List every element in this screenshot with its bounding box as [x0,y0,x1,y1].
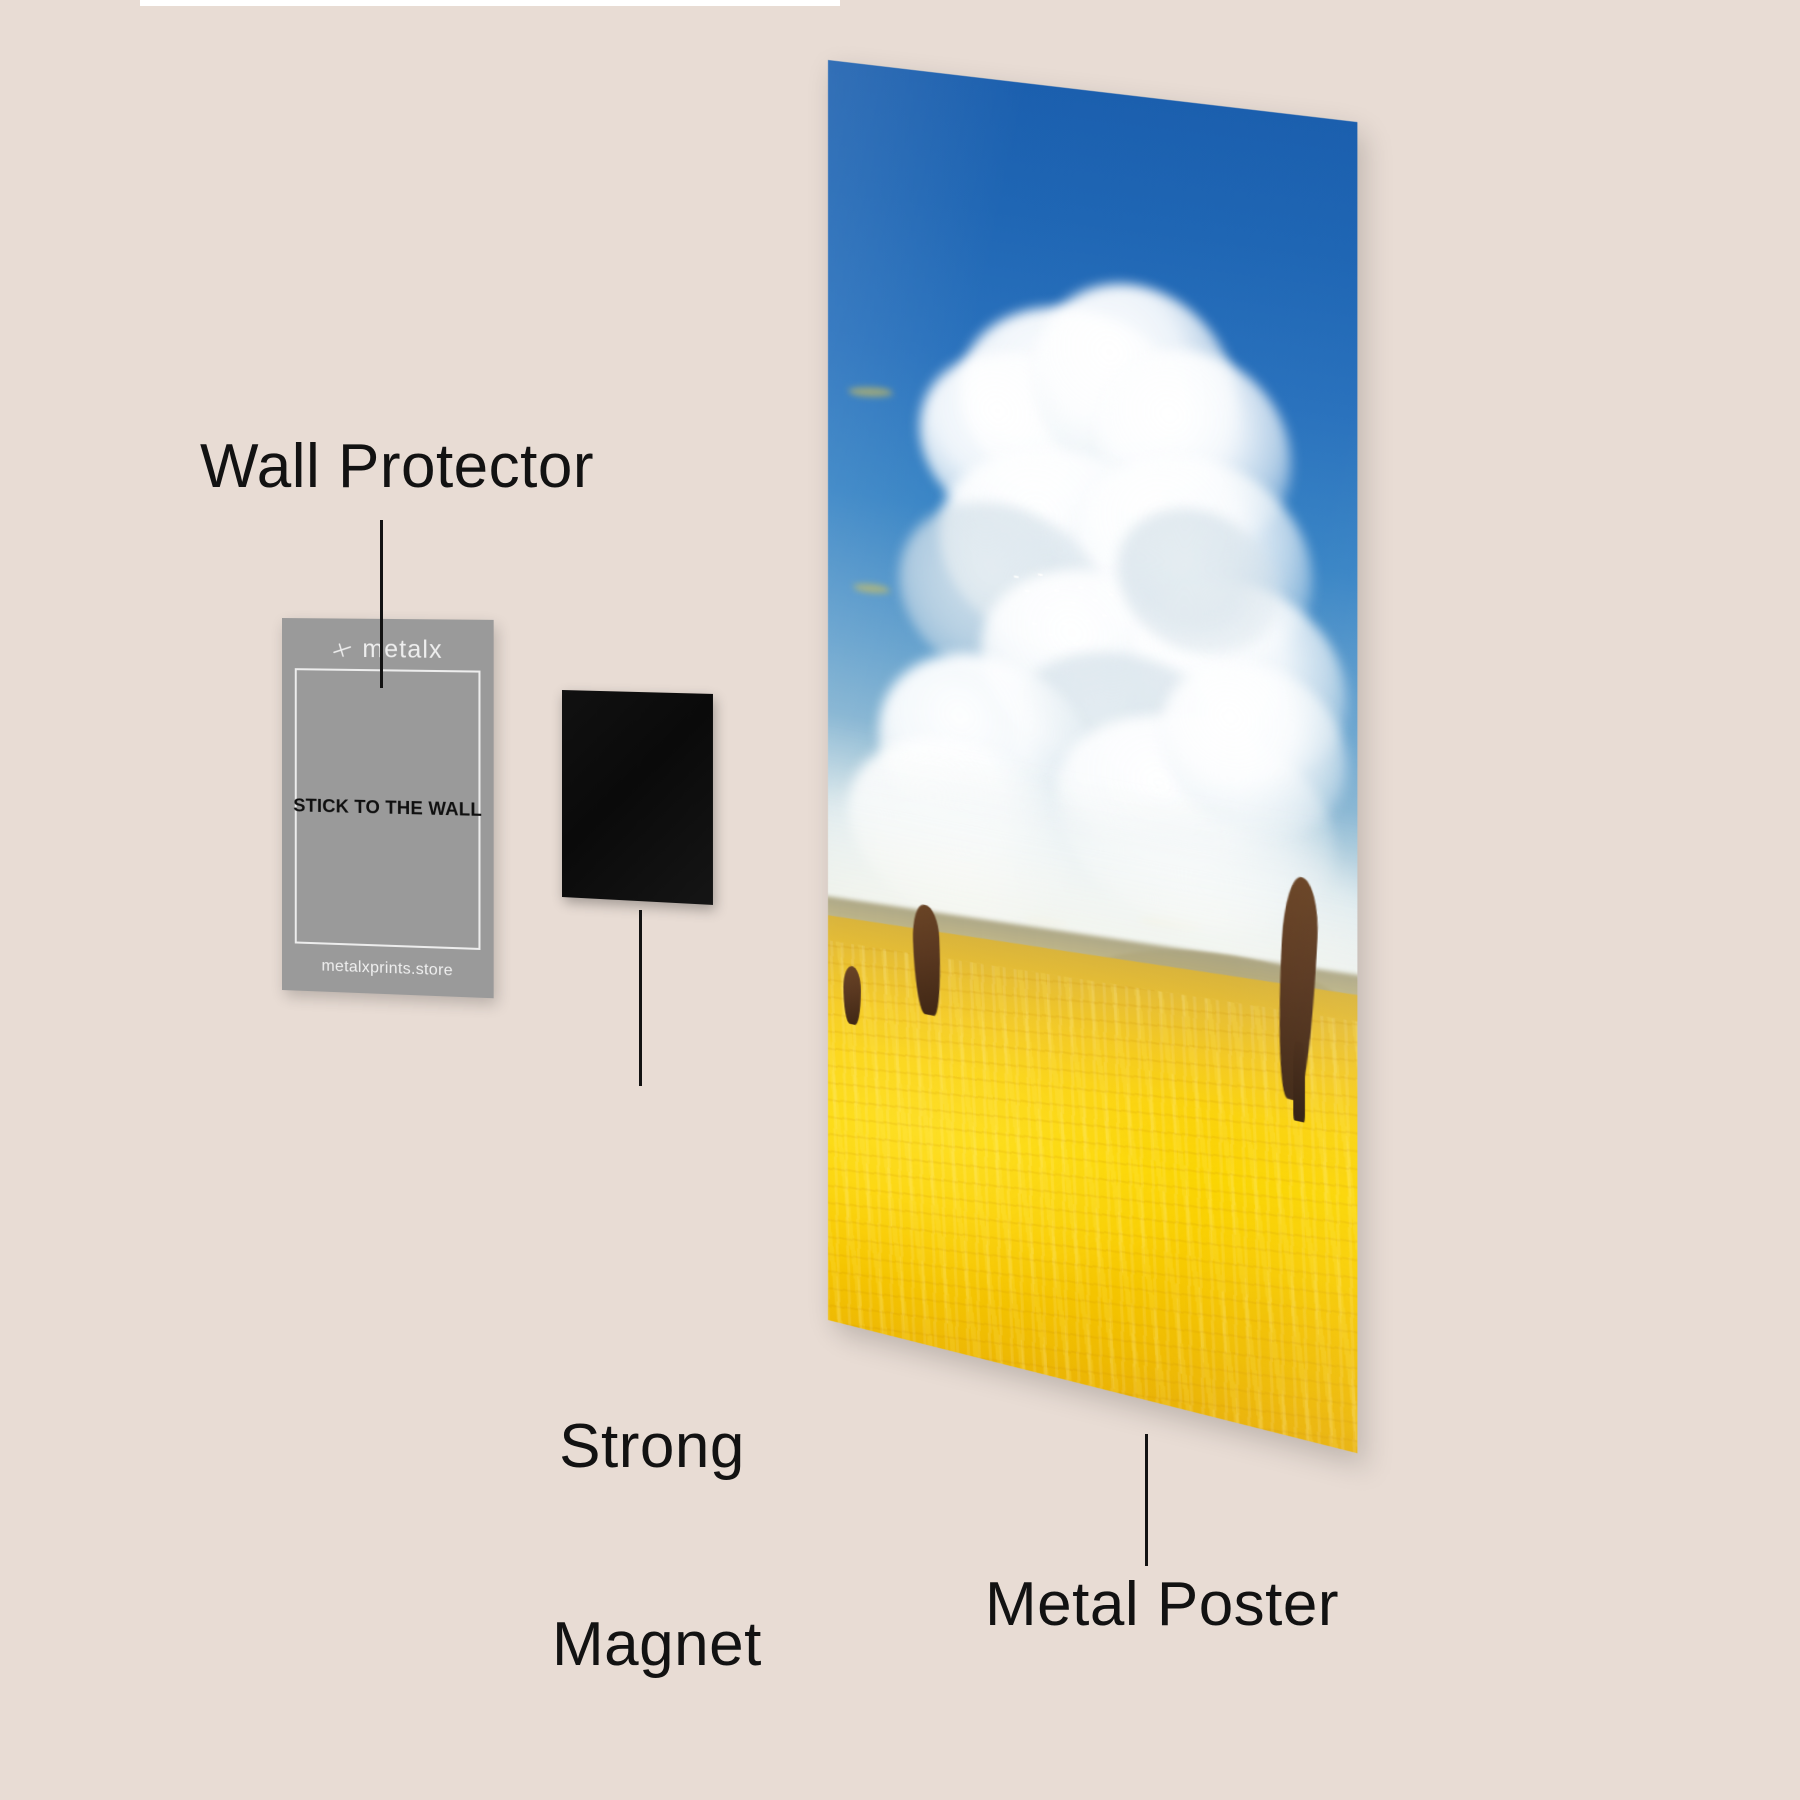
metal-poster-leader-line [1145,1434,1148,1566]
strong-magnet-label-line2: Magnet [552,1612,752,1678]
metalx-cross-icon [332,638,354,660]
tree-large-trunk [1293,1040,1305,1122]
wall-protector-card: metalx STICK TO THE WALL metalxprints.st… [282,618,494,998]
top-white-strip [140,0,840,6]
strong-magnet-label: Strong Magnet [552,1283,752,1800]
strong-magnet-label-line1: Strong [552,1414,752,1480]
wall-protector-label: Wall Protector [200,434,594,500]
card-store-url: metalxprints.store [282,956,494,982]
metal-poster-label: Metal Poster [985,1572,1339,1638]
metal-poster-artwork [828,60,1357,1453]
strong-magnet-square [562,690,713,905]
bird-flock [1007,556,1123,679]
wall-protector-leader-line [380,520,383,688]
product-infographic: metalx STICK TO THE WALL metalxprints.st… [0,0,1800,1800]
tree-small [843,964,861,1026]
metalx-logo: metalx [282,634,494,666]
strong-magnet-leader-line [639,910,642,1086]
metalx-wordmark: metalx [362,635,442,665]
field-brush-texture [828,936,1357,1454]
